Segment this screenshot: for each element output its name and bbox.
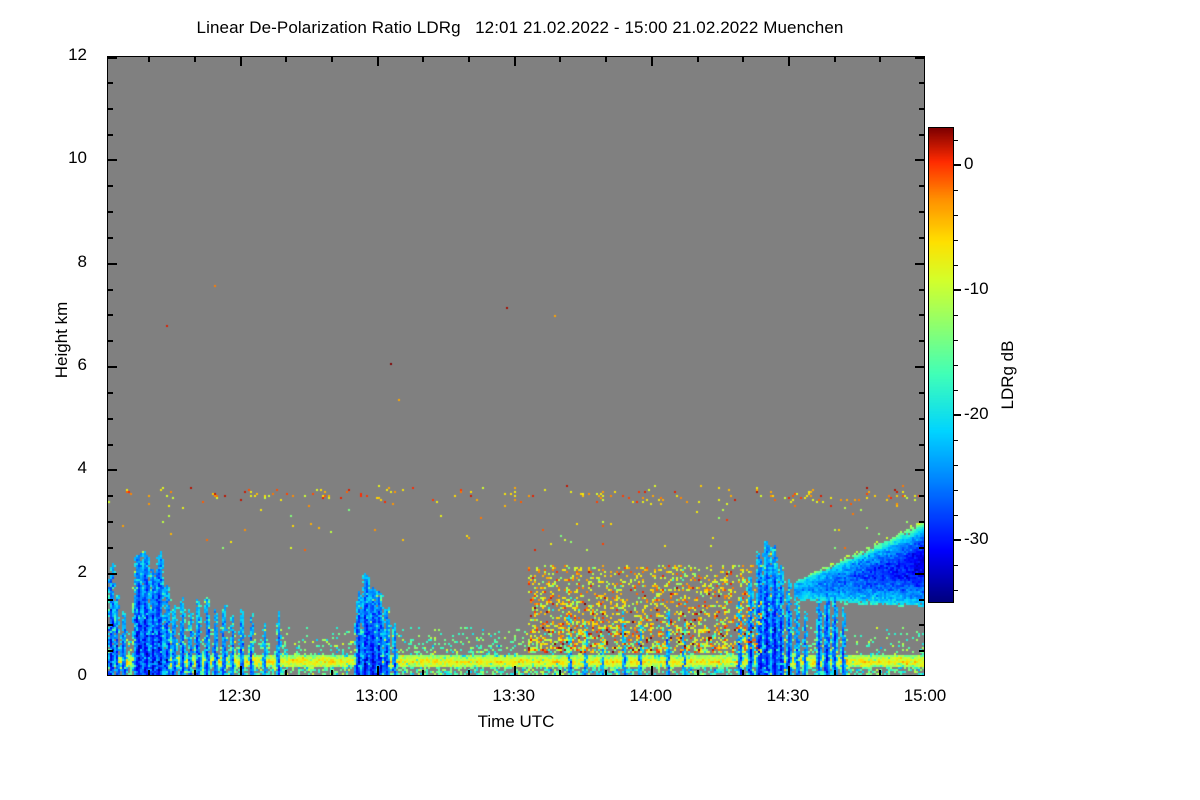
- colorbar-tick: [954, 539, 961, 541]
- x-axis-tick-minor: [468, 670, 470, 675]
- y-axis-tick-minor: [108, 82, 113, 84]
- x-axis-title: Time UTC: [107, 712, 925, 732]
- colorbar-tick-minor: [954, 490, 958, 491]
- y-axis-tick-minor: [108, 392, 113, 394]
- colorbar-tick-minor: [954, 140, 958, 141]
- x-axis-tick: [240, 57, 242, 66]
- x-axis-tick-minor: [148, 670, 150, 675]
- x-axis-tick-label: 14:00: [611, 686, 691, 706]
- y-axis-tick-minor: [919, 547, 924, 549]
- x-axis-tick: [788, 57, 790, 66]
- x-axis-tick-minor: [331, 670, 333, 675]
- y-axis-title: Height km: [52, 270, 72, 410]
- y-axis-tick: [915, 366, 924, 368]
- y-axis-tick-minor: [108, 418, 113, 420]
- x-axis-tick: [924, 666, 925, 675]
- x-axis-tick-minor: [422, 57, 424, 62]
- plot-area[interactable]: [107, 56, 925, 676]
- page-title: Linear De-Polarization Ratio LDRg 12:01 …: [0, 18, 1040, 38]
- colorbar-tick-minor: [954, 515, 958, 516]
- x-axis-tick: [514, 57, 516, 66]
- y-axis-tick-minor: [108, 211, 113, 213]
- colorbar-tick-minor: [954, 390, 958, 391]
- y-axis-tick-minor: [919, 134, 924, 136]
- y-axis-tick: [915, 57, 924, 59]
- y-axis-tick: [108, 573, 117, 575]
- y-axis-tick: [108, 469, 117, 471]
- colorbar-tick-minor: [954, 215, 958, 216]
- y-axis-tick-minor: [108, 314, 113, 316]
- x-axis-tick-minor: [285, 57, 287, 62]
- y-axis-tick-minor: [108, 134, 113, 136]
- x-axis-tick-minor: [834, 670, 836, 675]
- y-axis-tick-minor: [108, 108, 113, 110]
- x-axis-tick-label: 13:00: [337, 686, 417, 706]
- y-axis-tick: [915, 159, 924, 161]
- x-axis-tick: [377, 57, 379, 66]
- x-axis-tick-minor: [879, 670, 881, 675]
- colorbar-tick-label: -20: [964, 404, 989, 424]
- y-axis-tick: [108, 159, 117, 161]
- y-axis-tick-minor: [919, 444, 924, 446]
- y-axis-tick-minor: [108, 547, 113, 549]
- y-axis-tick-minor: [108, 185, 113, 187]
- y-axis-tick-minor: [108, 624, 113, 626]
- colorbar-tick: [954, 414, 961, 416]
- x-axis-tick-minor: [194, 57, 196, 62]
- colorbar-tick-minor: [954, 465, 958, 466]
- y-axis-tick: [108, 263, 117, 265]
- x-axis-tick: [924, 57, 925, 66]
- x-axis-tick-minor: [468, 57, 470, 62]
- colorbar-gradient: [928, 127, 954, 603]
- x-axis-tick-minor: [148, 57, 150, 62]
- colorbar-tick-minor: [954, 565, 958, 566]
- radar-figure: Linear De-Polarization Ratio LDRg 12:01 …: [0, 0, 1200, 800]
- x-axis-tick-label: 14:30: [748, 686, 828, 706]
- y-axis-tick-label: 8: [78, 252, 87, 272]
- colorbar-tick-minor: [954, 365, 958, 366]
- y-axis-tick-minor: [108, 237, 113, 239]
- x-axis-tick: [514, 666, 516, 675]
- x-axis-tick-label: 13:30: [474, 686, 554, 706]
- x-axis-tick-minor: [834, 57, 836, 62]
- x-axis-tick: [788, 666, 790, 675]
- y-axis-tick-label: 6: [78, 355, 87, 375]
- y-axis-tick-minor: [919, 211, 924, 213]
- y-axis-tick-minor: [108, 495, 113, 497]
- y-axis-tick-minor: [919, 418, 924, 420]
- y-axis-tick-minor: [108, 289, 113, 291]
- y-axis-tick-minor: [919, 624, 924, 626]
- x-axis-tick-label: 12:30: [200, 686, 280, 706]
- y-axis-tick-minor: [108, 599, 113, 601]
- x-axis-tick-minor: [742, 670, 744, 675]
- x-axis-tick-minor: [559, 57, 561, 62]
- y-axis-tick-label: 0: [78, 665, 87, 685]
- colorbar-tick-minor: [954, 265, 958, 266]
- x-axis-tick-minor: [331, 57, 333, 62]
- y-axis-tick-minor: [919, 314, 924, 316]
- colorbar-tick: [954, 289, 961, 291]
- x-axis-tick-minor: [879, 57, 881, 62]
- y-axis-tick-minor: [919, 82, 924, 84]
- x-axis-tick-minor: [605, 57, 607, 62]
- y-axis-tick: [915, 469, 924, 471]
- y-axis-tick-label: 2: [78, 562, 87, 582]
- x-axis-tick-minor: [605, 670, 607, 675]
- y-axis-tick: [915, 675, 924, 676]
- y-axis-tick: [108, 366, 117, 368]
- y-axis-tick-label: 12: [68, 45, 87, 65]
- colorbar-tick-label: 0: [964, 154, 973, 174]
- y-axis-tick-minor: [919, 237, 924, 239]
- y-axis-tick-minor: [919, 650, 924, 652]
- y-axis-tick-minor: [919, 289, 924, 291]
- x-axis-tick-minor: [697, 57, 699, 62]
- x-axis-tick-minor: [559, 670, 561, 675]
- colorbar-tick-minor: [954, 340, 958, 341]
- colorbar-tick: [954, 164, 961, 166]
- colorbar-title: LDRg dB: [998, 305, 1018, 445]
- x-axis-tick: [651, 57, 653, 66]
- colorbar-tick-minor: [954, 590, 958, 591]
- y-axis-tick: [108, 57, 117, 59]
- y-axis-tick-minor: [919, 392, 924, 394]
- y-axis-tick: [108, 675, 117, 676]
- x-axis-tick-minor: [194, 670, 196, 675]
- colorbar-tick-minor: [954, 440, 958, 441]
- y-axis-tick-label: 4: [78, 458, 87, 478]
- colorbar-tick-label: -30: [964, 529, 989, 549]
- x-axis-tick-minor: [742, 57, 744, 62]
- y-axis-tick: [915, 573, 924, 575]
- y-axis-tick: [915, 263, 924, 265]
- x-axis-tick-minor: [285, 670, 287, 675]
- x-axis-tick: [377, 666, 379, 675]
- y-axis-tick-minor: [919, 340, 924, 342]
- y-axis-tick-minor: [108, 521, 113, 523]
- colorbar[interactable]: [928, 127, 954, 603]
- y-axis-tick-label: 10: [68, 148, 87, 168]
- y-axis-tick-minor: [919, 521, 924, 523]
- colorbar-tick-minor: [954, 240, 958, 241]
- colorbar-tick-label: -10: [964, 279, 989, 299]
- colorbar-tick-minor: [954, 190, 958, 191]
- y-axis-tick-minor: [919, 108, 924, 110]
- y-axis-tick-minor: [108, 340, 113, 342]
- y-axis-tick-minor: [108, 444, 113, 446]
- y-axis-tick-minor: [919, 495, 924, 497]
- colorbar-tick-minor: [954, 315, 958, 316]
- x-axis-tick-label: 15:00: [885, 686, 965, 706]
- x-axis-tick: [651, 666, 653, 675]
- x-axis-tick: [240, 666, 242, 675]
- radar-heatmap-canvas: [108, 57, 925, 676]
- y-axis-tick-minor: [919, 185, 924, 187]
- y-axis-tick-minor: [919, 599, 924, 601]
- y-axis-tick-minor: [108, 650, 113, 652]
- x-axis-tick-minor: [697, 670, 699, 675]
- x-axis-tick-minor: [422, 670, 424, 675]
